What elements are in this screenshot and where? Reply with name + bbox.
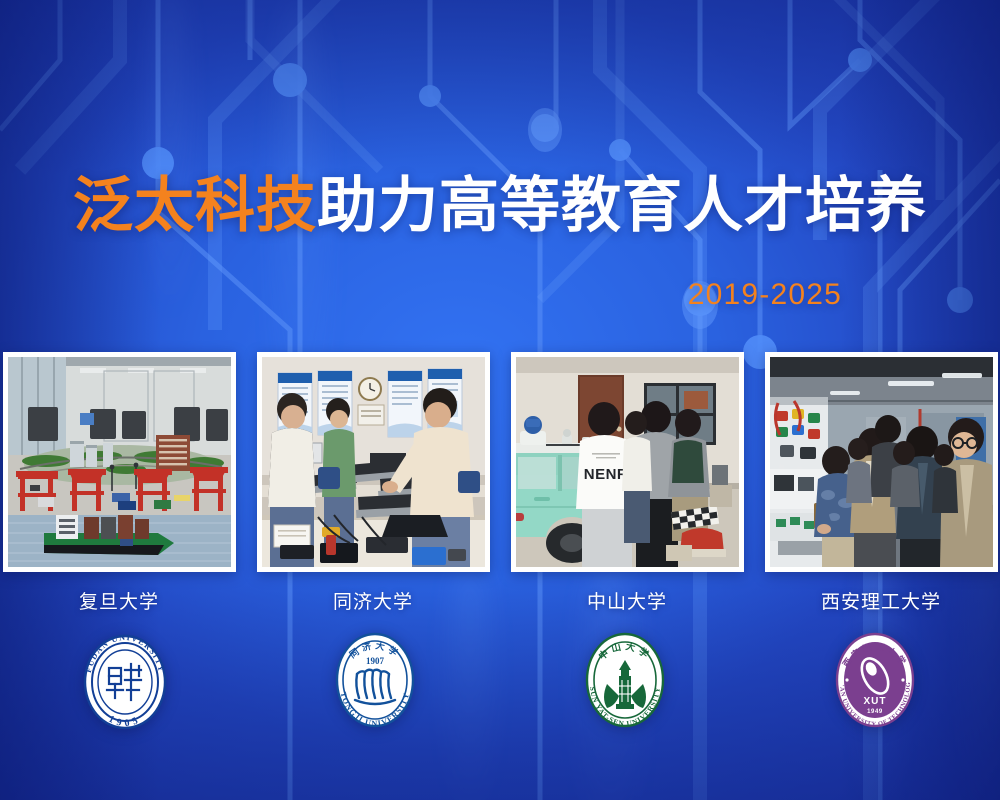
chevron-bands-thin: [250, 0, 940, 300]
logo-cell-sysu: 中山大学 SUN YAT-SEN UNIVERSITY: [511, 628, 740, 732]
logo-cell-tongji: 同济大学 TONGJI UNIVERSITY 1907: [260, 628, 489, 732]
sun-yat-sen-university-logo: 中山大学 SUN YAT-SEN UNIVERSITY: [577, 628, 673, 732]
photo-fudan-port-city-model: [8, 357, 231, 567]
card-label: 同济大学: [257, 587, 490, 614]
card-sysu: NENR: [511, 352, 744, 614]
photo-frame: [765, 352, 998, 572]
card-label: 复旦大学: [3, 587, 236, 614]
photo-frame: NENR: [511, 352, 744, 572]
subtitle-year-range: 2019-2025: [688, 278, 842, 312]
title-rest: 助力高等教育人才培养: [317, 172, 927, 239]
xian-university-of-technology-logo: 西安理工大学 XI'AN UNIVERSITY OF TECHNOLOGY XU…: [827, 628, 923, 732]
tongji-university-logo: 同济大学 TONGJI UNIVERSITY 1907: [327, 628, 423, 732]
photo-xut-industrial-demo: [770, 357, 993, 567]
svg-text:NENR: NENR: [583, 466, 628, 483]
logo-cell-fudan: FUDAN UNIVERSITY 1905: [10, 628, 239, 732]
photo-frame: [257, 352, 490, 572]
card-label: 中山大学: [511, 587, 744, 614]
svg-text:XUT: XUT: [864, 696, 887, 707]
photo-frame: [3, 352, 236, 572]
card-label: 西安理工大学: [765, 587, 998, 614]
photo-tongji-lab-equipment: [262, 357, 485, 567]
photo-sysu-autonomous-vehicle: NENR: [516, 357, 739, 567]
card-tongji: 同济大学: [257, 352, 490, 614]
card-fudan: 复旦大学: [3, 352, 236, 614]
card-xut: 西安理工大学: [765, 352, 998, 614]
title-block: 泛太科技助力高等教育人才培养: [0, 172, 1000, 239]
svg-text:1907: 1907: [366, 656, 385, 666]
photo-cards-row: 复旦大学: [0, 352, 1000, 614]
page-title: 泛太科技助力高等教育人才培养: [0, 172, 1000, 239]
poster-root: 泛太科技助力高等教育人才培养 2019-2025: [0, 0, 1000, 800]
svg-text:1949: 1949: [868, 709, 884, 715]
fudan-university-logo: FUDAN UNIVERSITY 1905: [77, 628, 173, 732]
logo-cell-xut: 西安理工大学 XI'AN UNIVERSITY OF TECHNOLOGY XU…: [761, 628, 990, 732]
university-logos-row: FUDAN UNIVERSITY 1905: [0, 628, 1000, 732]
title-brand: 泛太科技: [73, 172, 317, 239]
